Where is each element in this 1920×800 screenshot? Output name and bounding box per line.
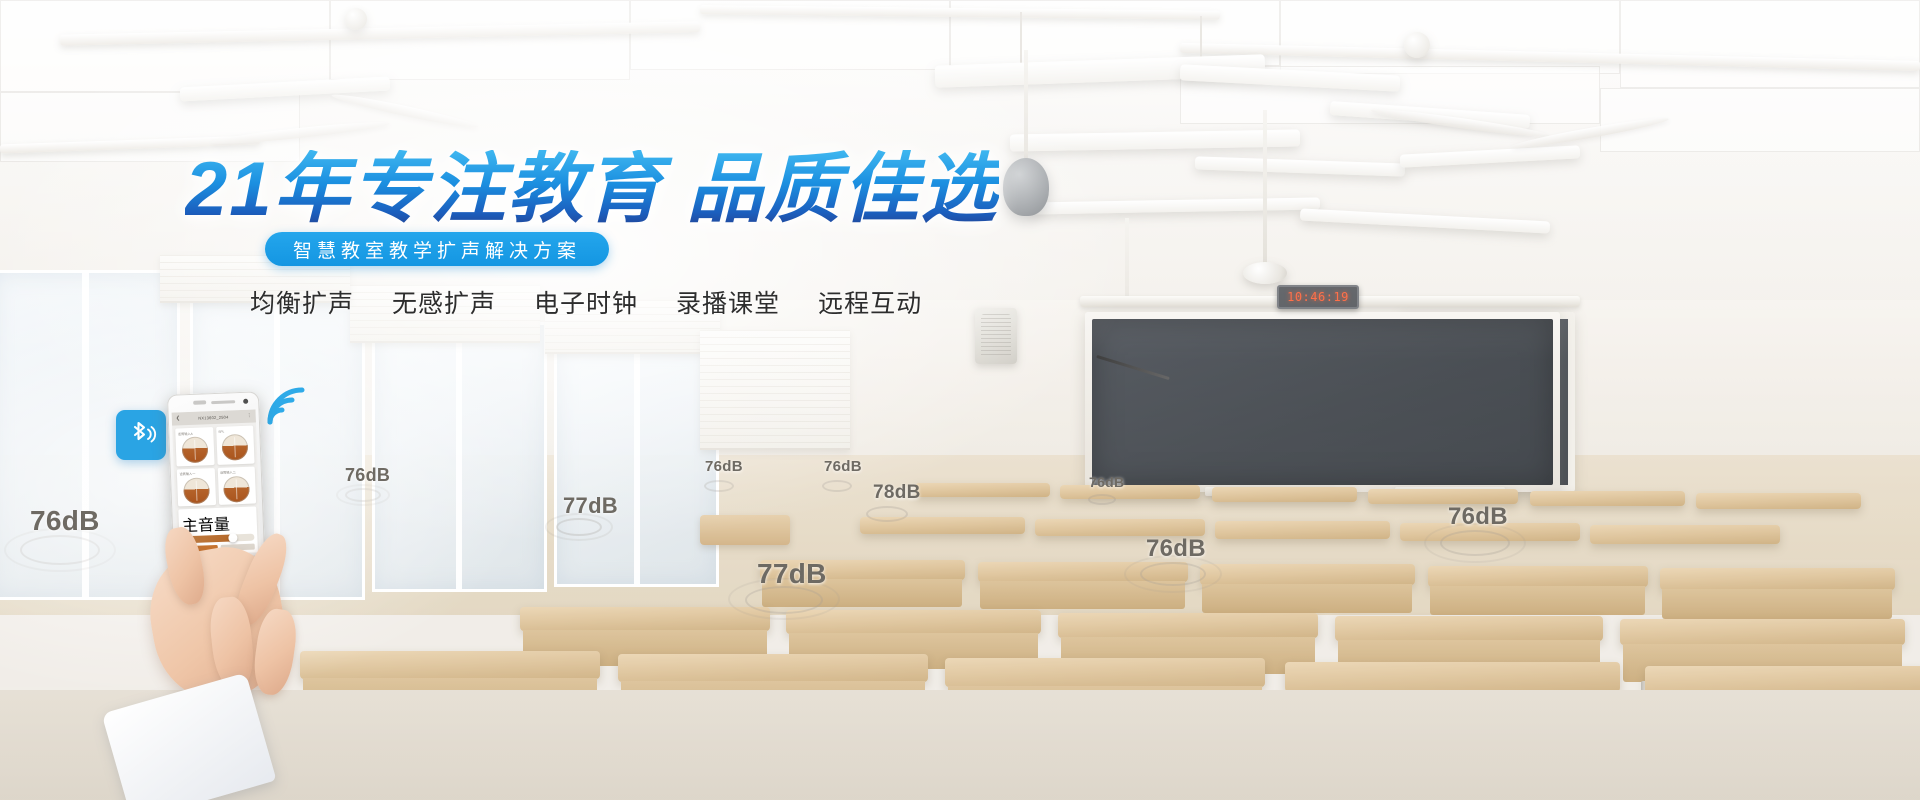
desk <box>1590 525 1780 544</box>
db-marker: 76dB <box>824 458 862 475</box>
desk <box>1060 485 1200 499</box>
sound-ripple <box>336 484 390 506</box>
db-marker: 76dB <box>30 505 100 537</box>
subtitle-text: 智慧教室教学扩声解决方案 <box>293 236 581 263</box>
ceiling-sensor <box>345 8 367 30</box>
desk <box>915 483 1050 497</box>
feature-list: 均衡扩声 无感扩声 电子时钟 录播课堂 远程互动 <box>250 284 922 320</box>
app-card[interactable]: SPL <box>216 426 255 465</box>
ceiling-panel <box>1620 0 1920 88</box>
desk <box>1696 493 1861 509</box>
sound-ripple <box>822 480 852 492</box>
desk-panel <box>1662 589 1892 619</box>
subtitle-pill: 智慧教室教学扩声解决方案 <box>265 232 609 266</box>
desk <box>520 607 770 631</box>
ceiling-speaker <box>1243 262 1287 284</box>
kebab-menu-icon[interactable]: ⋮ <box>247 414 252 419</box>
page-title: 21年专注教育 品质佳选 <box>185 150 999 230</box>
desk <box>1285 662 1620 692</box>
desk <box>1200 564 1415 585</box>
pendant-speaker <box>1003 158 1049 216</box>
bluetooth-icon <box>116 410 166 460</box>
sound-ripple <box>866 506 908 522</box>
rotary-knob[interactable] <box>183 477 210 504</box>
db-marker: 76dB <box>1448 503 1508 531</box>
phone-earpiece <box>211 400 235 403</box>
light-hanger <box>1200 16 1202 62</box>
app-device-title: NX13602_2504 <box>198 414 228 420</box>
feature-item-electronic-clock: 电子时钟 <box>534 284 638 320</box>
db-marker: 76dB <box>1146 535 1206 563</box>
app-card-label: SPL <box>218 428 251 433</box>
desk <box>1058 613 1318 638</box>
app-card-label: 话筒输入一 <box>179 470 212 476</box>
app-card[interactable]: 话筒输入二 <box>217 466 256 505</box>
hand <box>160 513 500 800</box>
db-marker: 76dB <box>1089 474 1124 490</box>
blind-slats <box>700 330 850 448</box>
rotary-knob[interactable] <box>223 475 250 502</box>
phone-front-camera <box>243 398 248 403</box>
desk <box>1620 619 1905 645</box>
hero-banner: 10:46:19 <box>0 0 1920 800</box>
desk <box>618 654 928 682</box>
sound-ripple <box>704 480 734 492</box>
app-card[interactable]: 话筒输入一 <box>177 468 216 507</box>
chevron-left-icon[interactable]: ❮ <box>176 416 180 421</box>
rotary-knob[interactable] <box>181 436 208 463</box>
app-card-label: 话筒输入A <box>178 430 211 436</box>
chair <box>700 515 790 545</box>
desk <box>1660 568 1895 590</box>
rotary-knob[interactable] <box>222 434 249 461</box>
speaker-pipe <box>1263 110 1267 265</box>
desk <box>1335 616 1603 641</box>
clock-time: 10:46:19 <box>1287 290 1349 304</box>
ceiling-panel <box>0 0 330 92</box>
phone-in-hand: ❮ NX13602_2504 ⋮ 话筒输入A SPL 话筒输入一 <box>160 393 270 573</box>
feature-item-equalized-amplification: 均衡扩声 <box>250 284 354 320</box>
feature-item-remote-interaction: 远程互动 <box>818 284 922 320</box>
sound-ripple <box>1088 494 1116 505</box>
phone-sensor <box>193 400 206 404</box>
feature-item-recorded-classroom: 录播课堂 <box>676 284 780 320</box>
db-marker: 76dB <box>345 465 390 486</box>
ceiling-panel <box>1280 0 1620 74</box>
desk-panel <box>1202 584 1412 613</box>
wall-speaker <box>975 308 1017 364</box>
light-hanger <box>1020 12 1022 64</box>
desk-panel <box>1430 586 1645 615</box>
desk <box>1530 491 1685 506</box>
app-card-label: 话筒输入二 <box>220 469 253 475</box>
feature-item-seamless-amplification: 无感扩声 <box>392 284 496 320</box>
db-marker: 77dB <box>757 558 827 590</box>
ceiling-sensor <box>1404 32 1430 58</box>
app-card[interactable]: 话筒输入A <box>175 427 214 466</box>
db-marker: 78dB <box>873 482 921 504</box>
desk <box>1035 519 1205 536</box>
db-marker: 76dB <box>705 458 743 475</box>
window-blind <box>700 330 850 450</box>
ceiling-panel <box>330 0 630 80</box>
speaker-pipe <box>1024 50 1028 160</box>
desk <box>1212 487 1357 502</box>
desk <box>1428 566 1648 587</box>
db-marker: 77dB <box>563 493 618 519</box>
desk <box>1215 521 1390 539</box>
desk <box>945 658 1265 687</box>
electronic-clock: 10:46:19 <box>1277 285 1359 309</box>
desk <box>1368 489 1518 504</box>
